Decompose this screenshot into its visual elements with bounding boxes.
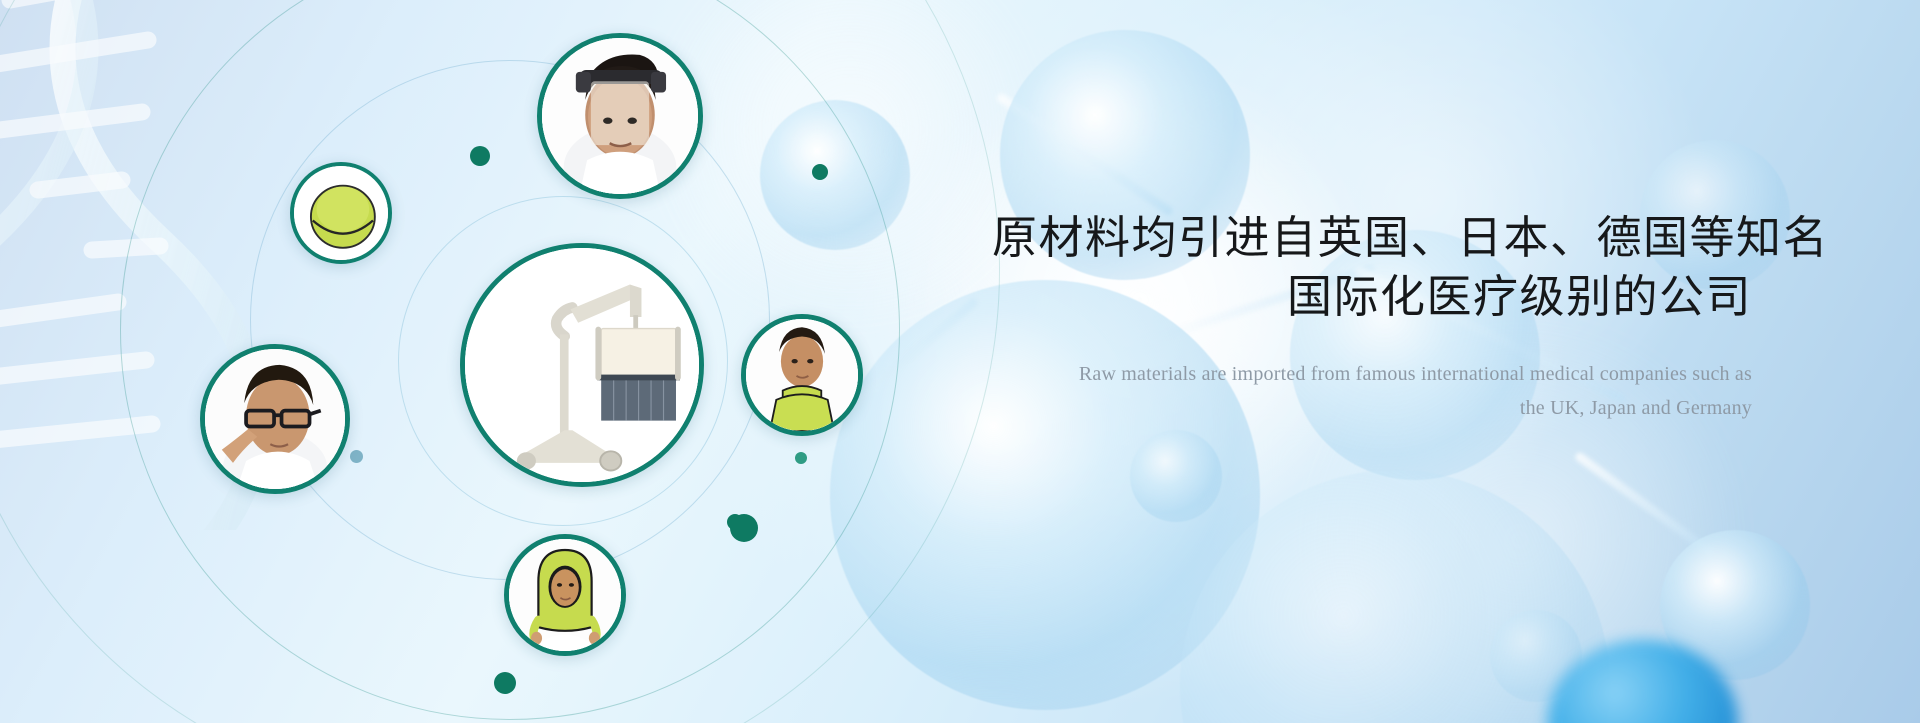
orbit-dot (470, 146, 490, 166)
orbit-dot-small (350, 450, 363, 463)
mobile-x-ray-shield-image (465, 248, 699, 482)
molecule-sphere (1130, 430, 1222, 522)
molecule-sphere (1660, 530, 1810, 680)
molecule-bond (1574, 451, 1717, 558)
subtitle-line-2: the UK, Japan and Germany (992, 391, 1752, 425)
orbit-dot-small (795, 452, 807, 464)
hero-banner: 原材料均引进自英国、日本、德国等知名 国际化医疗级别的公司 Raw materi… (0, 0, 1920, 723)
protective-hood-image (509, 539, 621, 651)
thyroid-collar-image (746, 319, 858, 431)
banner-headline: 原材料均引进自英国、日本、德国等知名 国际化医疗级别的公司 (992, 208, 1752, 327)
banner-subtitle: Raw materials are imported from famous i… (992, 357, 1752, 426)
orbit-dot (494, 672, 516, 694)
molecule-sphere (1490, 610, 1582, 702)
product-bubble-lead-glasses[interactable] (200, 344, 350, 494)
product-bubble-protective-hood[interactable] (504, 534, 626, 656)
headline-line-2: 国际化医疗级别的公司 (992, 267, 1752, 326)
molecule-sphere (1180, 470, 1610, 723)
headline-line-1: 原材料均引进自英国、日本、德国等知名 (992, 212, 1829, 263)
product-bubble-mobile-shield[interactable] (460, 243, 704, 487)
head-shield-image (542, 38, 698, 194)
product-bubble-thyroid-collar[interactable] (741, 314, 863, 436)
lead-glasses-image (205, 349, 345, 489)
accent-blue-sphere (1548, 640, 1738, 723)
orbit-dot-large (730, 514, 758, 542)
subtitle-line-1: Raw materials are imported from famous i… (1079, 363, 1752, 385)
banner-text-block: 原材料均引进自英国、日本、德国等知名 国际化医疗级别的公司 Raw materi… (992, 208, 1752, 426)
lead-cap-image (294, 166, 388, 260)
product-bubble-lead-cap[interactable] (290, 162, 392, 264)
molecule-bond (995, 92, 1174, 217)
product-bubble-head-shield[interactable] (537, 33, 703, 199)
orbit-dot (812, 164, 828, 180)
